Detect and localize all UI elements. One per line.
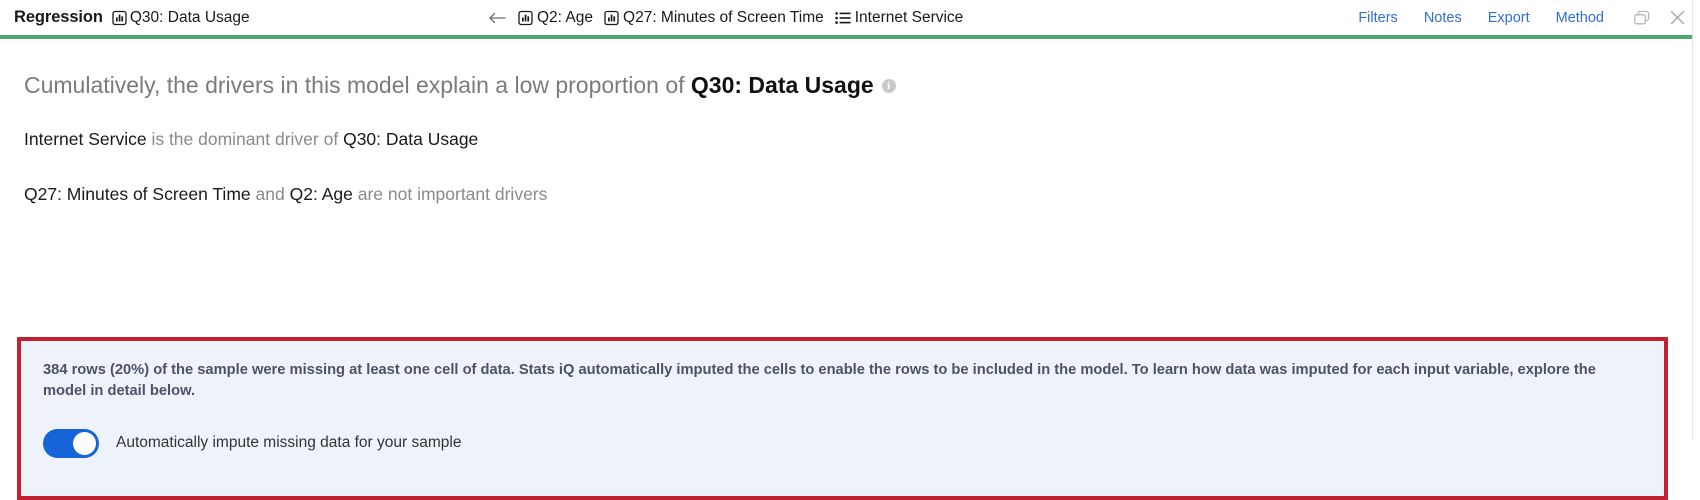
bar-chart-icon	[604, 10, 619, 26]
finding-driver-name: Q2: Age	[290, 184, 353, 204]
export-button[interactable]: Export	[1488, 10, 1530, 26]
method-button[interactable]: Method	[1556, 10, 1604, 26]
auto-impute-toggle-label: Automatically impute missing data for yo…	[116, 434, 461, 452]
breadcrumb-outcome-label: Q30: Data Usage	[130, 9, 250, 27]
notes-button[interactable]: Notes	[1424, 10, 1462, 26]
finding-trailing-text: are not important drivers	[358, 184, 548, 204]
bar-chart-icon	[112, 10, 127, 26]
restore-window-icon[interactable]	[1633, 9, 1651, 27]
filters-button[interactable]: Filters	[1358, 10, 1397, 26]
arrow-left-icon[interactable]	[487, 10, 507, 26]
missing-data-alert: 384 rows (20%) of the sample were missin…	[17, 337, 1668, 500]
header-actions: Filters Notes Export Method	[1358, 0, 1686, 35]
toggle-knob	[73, 432, 96, 455]
finding-connector: is the dominant driver of	[151, 129, 338, 149]
finding-connector: and	[256, 184, 285, 204]
finding-unimportant-drivers: Q27: Minutes of Screen Time and Q2: Age …	[24, 184, 1676, 205]
app-header: Regression Q30: Data Usage	[0, 0, 1700, 35]
breadcrumb-item-q2-age[interactable]: Q2: Age	[518, 9, 593, 27]
panel-edge	[1692, 0, 1700, 440]
breadcrumb-item-internet-service[interactable]: Internet Service	[835, 9, 964, 27]
breadcrumb: Q2: Age Q27: Minutes of Screen Time	[487, 0, 963, 35]
finding-outcome-name: Q30: Data Usage	[343, 129, 478, 149]
breadcrumb-outcome[interactable]: Q30: Data Usage	[112, 9, 250, 27]
finding-driver-name: Internet Service	[24, 129, 147, 149]
breadcrumb-item-label: Q27: Minutes of Screen Time	[623, 9, 824, 27]
breadcrumb-item-label: Q2: Age	[537, 9, 593, 27]
page-title: Regression	[14, 8, 103, 27]
headline-lead: Cumulatively, the drivers in this model …	[24, 72, 685, 98]
close-icon[interactable]	[1669, 9, 1686, 26]
finding-dominant-driver: Internet Service is the dominant driver …	[24, 129, 1676, 150]
info-icon[interactable]: i	[882, 79, 896, 93]
list-icon	[835, 11, 851, 25]
impute-toggle-row: Automatically impute missing data for yo…	[43, 429, 1642, 458]
window-controls	[1633, 9, 1686, 27]
auto-impute-toggle[interactable]	[43, 429, 99, 458]
finding-driver-name: Q27: Minutes of Screen Time	[24, 184, 251, 204]
alert-message: 384 rows (20%) of the sample were missin…	[43, 360, 1623, 402]
accent-bar	[0, 35, 1700, 39]
breadcrumb-item-label: Internet Service	[855, 9, 964, 27]
headline-emphasis: Q30: Data Usage	[691, 72, 874, 98]
bar-chart-icon	[518, 10, 533, 26]
main-content: Cumulatively, the drivers in this model …	[0, 72, 1700, 205]
headline: Cumulatively, the drivers in this model …	[24, 72, 1676, 100]
header-left-group: Regression Q30: Data Usage	[14, 8, 250, 27]
breadcrumb-item-q27-screen-time[interactable]: Q27: Minutes of Screen Time	[604, 9, 824, 27]
